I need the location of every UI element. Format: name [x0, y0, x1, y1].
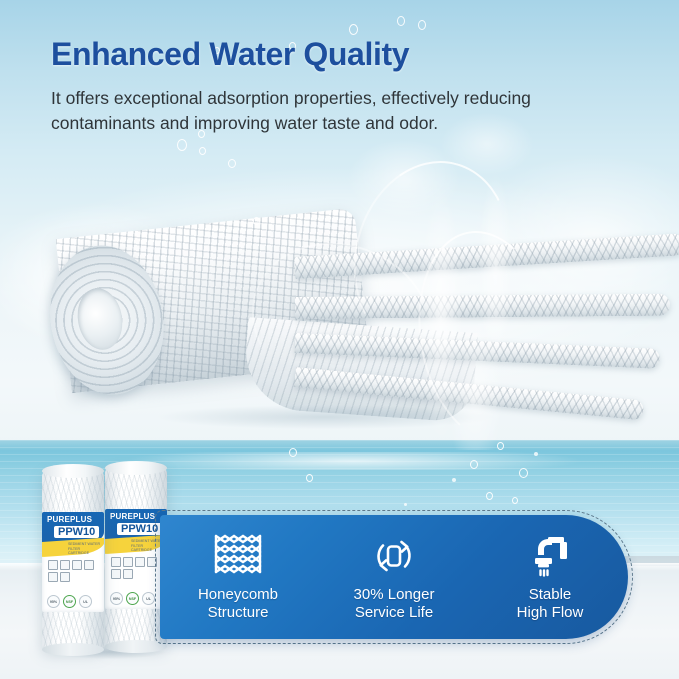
- feature-honeycomb-structure[interactable]: Honeycomb Structure: [160, 515, 316, 639]
- droplet: [349, 24, 358, 35]
- feature-label-line2: Service Life: [355, 604, 433, 621]
- spec-icon: [123, 569, 133, 579]
- filter-cartridge-front: PUREPLUS PPW10 SEDIMENT WATER FILTER CAR…: [42, 470, 104, 650]
- droplet: [534, 452, 538, 456]
- brand-name: PUREPLUS: [47, 515, 92, 524]
- feature-bar: Honeycomb Structure 30% Longer S: [160, 515, 628, 639]
- label-badges: 95% NSF UL: [110, 592, 155, 605]
- page-title: Enhanced Water Quality: [51, 36, 409, 73]
- badge-ul: UL: [79, 595, 92, 608]
- faucet-icon: [527, 532, 573, 580]
- badge-efficiency: 95%: [110, 592, 123, 605]
- label-spec-icons: [48, 560, 100, 582]
- droplet: [177, 139, 187, 151]
- spec-icon: [48, 572, 58, 582]
- droplet: [253, 217, 260, 225]
- droplet: [228, 159, 236, 168]
- badge-efficiency: 95%: [47, 595, 60, 608]
- spec-icon: [84, 560, 94, 570]
- feature-label-line1: 30% Longer: [354, 586, 435, 603]
- spec-icon: [72, 560, 82, 570]
- model-name: PPW10: [54, 526, 99, 538]
- label-badges: 95% NSF UL: [47, 595, 92, 608]
- spec-icon: [60, 572, 70, 582]
- droplet: [512, 497, 518, 504]
- cartridge-label: PUREPLUS PPW10 SEDIMENT WATER FILTER CAR…: [42, 512, 104, 612]
- droplet: [306, 474, 313, 482]
- droplet: [497, 442, 504, 450]
- spec-icon: [60, 560, 70, 570]
- feature-label: Honeycomb Structure: [198, 586, 278, 622]
- feature-label: Stable High Flow: [517, 586, 584, 622]
- spec-icon: [111, 569, 121, 579]
- feature-label-line1: Stable: [529, 586, 572, 603]
- feature-stable-high-flow[interactable]: Stable High Flow: [472, 515, 628, 639]
- droplet: [486, 492, 493, 500]
- water-horizon-glint: [0, 452, 679, 470]
- badge-ul: UL: [142, 592, 155, 605]
- recycle-cartridge-icon: [371, 532, 417, 580]
- droplet: [519, 468, 528, 478]
- page-subtitle: It offers exceptional adsorption propert…: [51, 86, 581, 136]
- label-tagline: SEDIMENT WATER FILTER CARTRIDGE: [68, 542, 102, 556]
- droplet: [199, 147, 206, 155]
- feature-label: 30% Longer Service Life: [354, 586, 435, 622]
- badge-nsf: NSF: [126, 592, 139, 605]
- honeycomb-mesh-icon: [213, 532, 263, 580]
- product-marketing-image: Enhanced Water Quality It offers excepti…: [0, 0, 679, 679]
- droplet: [397, 16, 405, 26]
- feature-label-line2: High Flow: [517, 604, 584, 621]
- droplet: [470, 460, 478, 469]
- droplet: [404, 503, 407, 506]
- brand-name: PUREPLUS: [110, 512, 155, 521]
- spec-icon: [135, 557, 145, 567]
- droplet: [418, 20, 426, 30]
- droplet: [289, 448, 297, 457]
- droplet: [452, 478, 456, 482]
- feature-longer-service-life[interactable]: 30% Longer Service Life: [316, 515, 472, 639]
- feature-label-line1: Honeycomb: [198, 586, 278, 603]
- feature-label-line2: Structure: [208, 604, 269, 621]
- spec-icon: [48, 560, 58, 570]
- spec-icon: [123, 557, 133, 567]
- badge-nsf: NSF: [63, 595, 76, 608]
- spec-icon: [111, 557, 121, 567]
